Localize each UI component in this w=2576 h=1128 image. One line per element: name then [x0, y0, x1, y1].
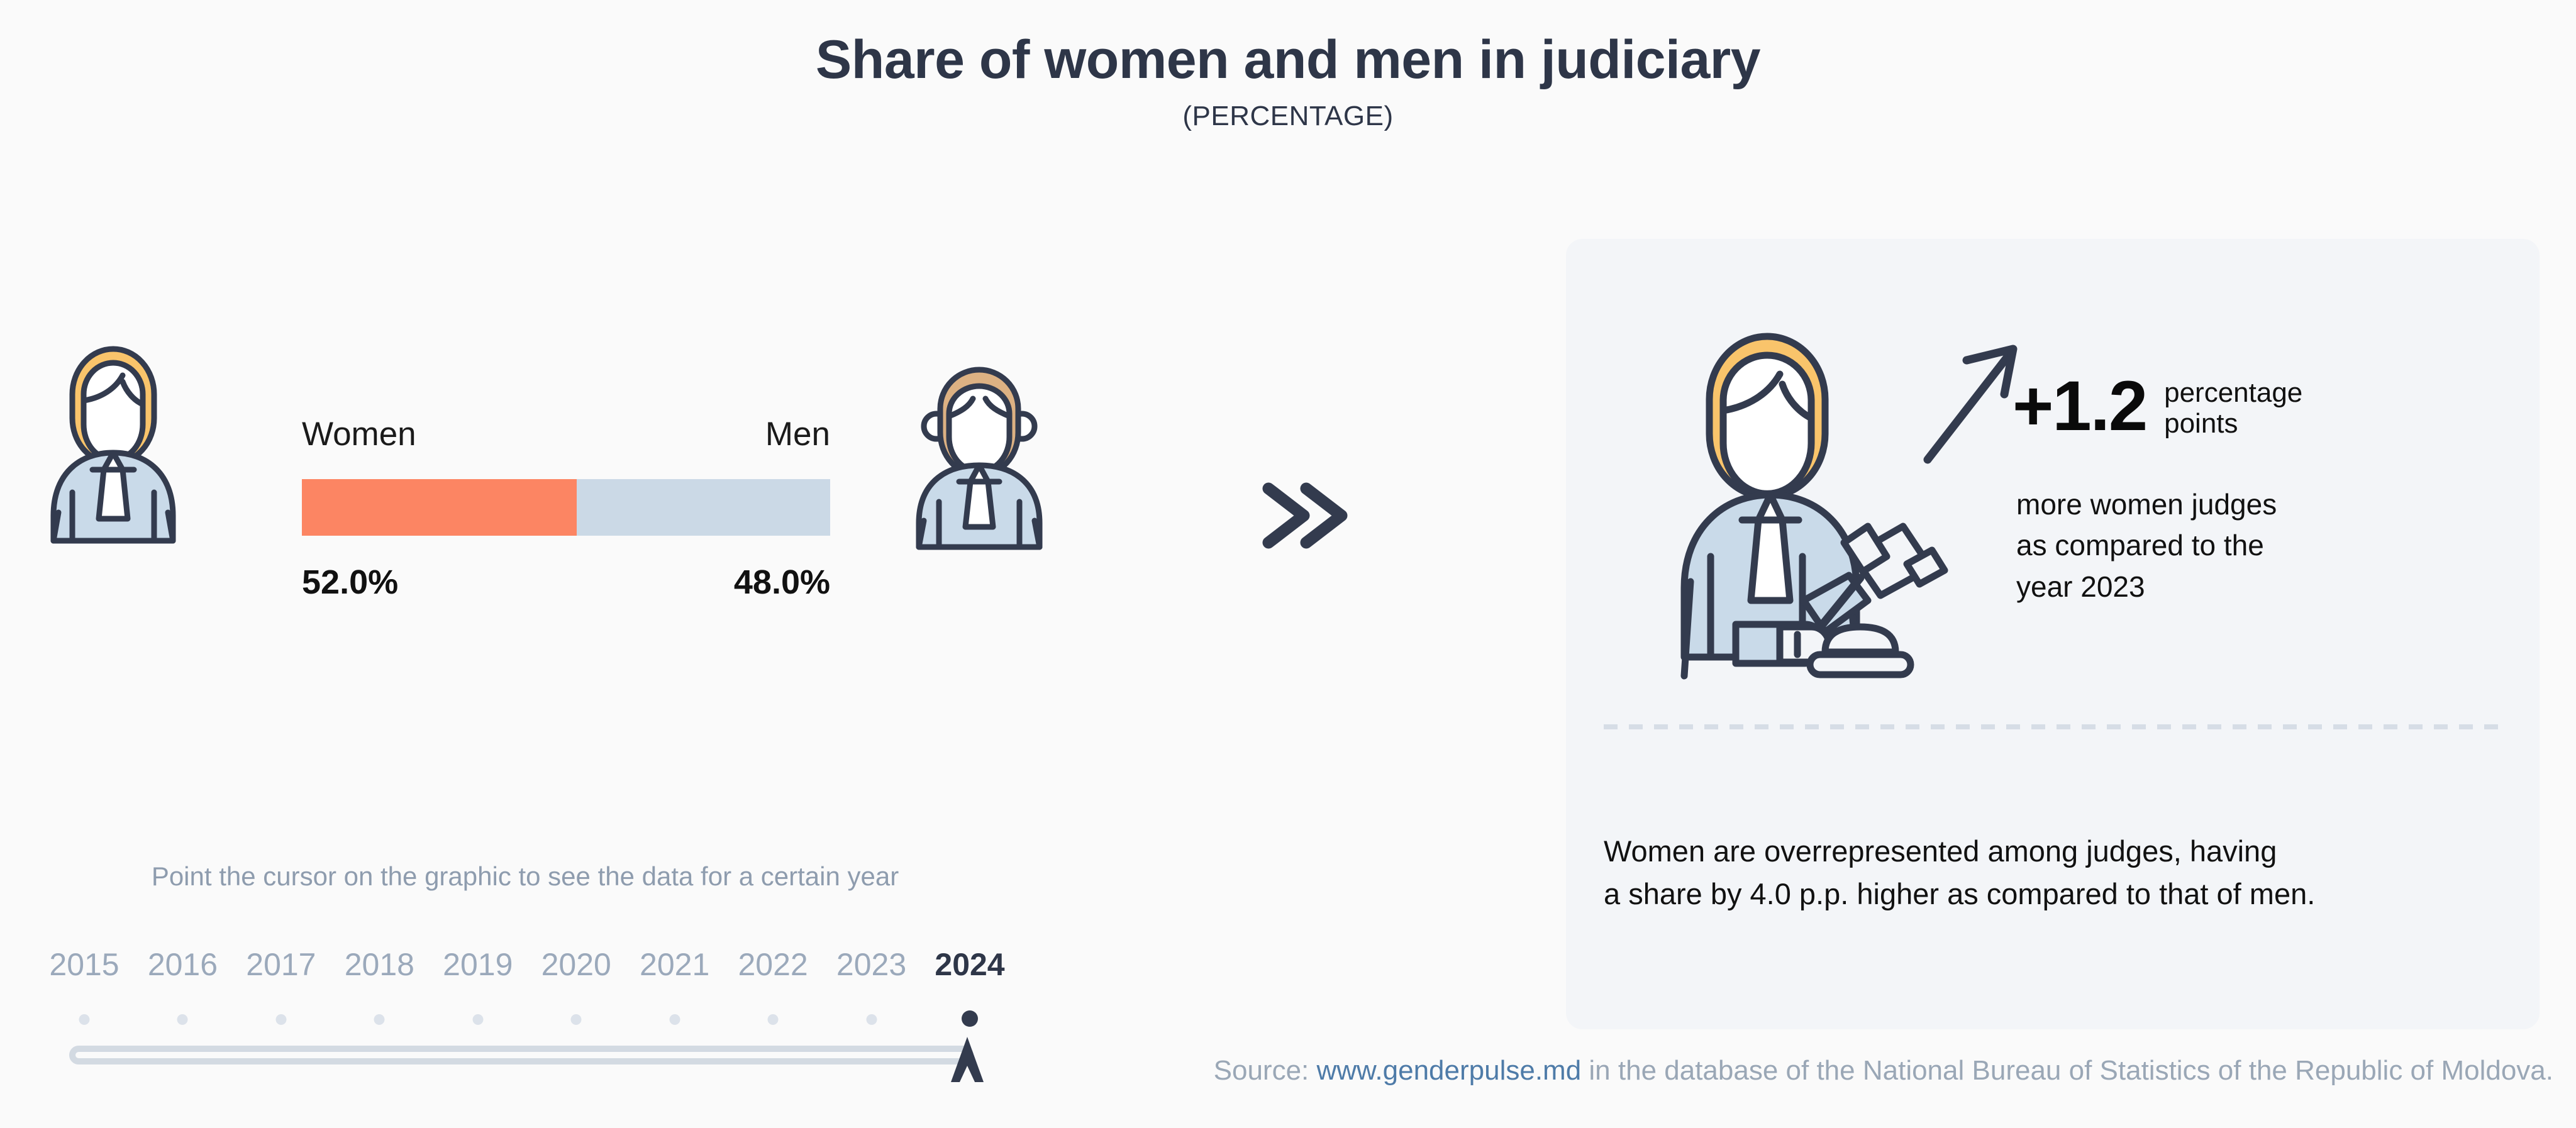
panel-note-line2: a share by 4.0 p.p. higher as compared t…: [1604, 873, 2315, 915]
bar-value-women: 52.0%: [302, 563, 398, 602]
chart-section: Women Men 52.0% 48.0%: [0, 207, 1478, 931]
woman-judge-avatar-icon: [35, 324, 192, 566]
timeline-tick-2015[interactable]: [79, 1014, 90, 1025]
stat-desc-line3: year 2023: [2016, 567, 2277, 607]
timeline-tick-2022[interactable]: [768, 1014, 779, 1025]
stat-unit: percentage points: [2164, 371, 2302, 440]
timeline-tick-2017[interactable]: [275, 1014, 286, 1025]
stat-desc-line1: more women judges: [2016, 484, 2277, 525]
timeline-year-2019[interactable]: 2019: [443, 946, 513, 983]
timeline-tick-2024[interactable]: [962, 1010, 978, 1027]
bar-segment-women[interactable]: [302, 479, 577, 536]
timeline-tick-2018[interactable]: [374, 1014, 385, 1025]
insight-panel: +1.2 percentage points more women judges…: [1566, 239, 2540, 1029]
timeline-tick-2021[interactable]: [669, 1014, 680, 1025]
timeline-hint: Point the cursor on the graphic to see t…: [69, 861, 981, 892]
timeline-tick-2020[interactable]: [571, 1014, 582, 1025]
page-title: Share of women and men in judiciary: [0, 29, 2576, 91]
panel-note-line1: Women are overrepresented among judges, …: [1604, 830, 2315, 873]
timeline-tick-2016[interactable]: [177, 1014, 188, 1025]
stat-description: more women judges as compared to the yea…: [2016, 484, 2277, 607]
man-judge-avatar-icon: [904, 346, 1055, 569]
infographic-page: Share of women and men in judiciary (PER…: [0, 0, 2576, 1128]
timeline-year-2023[interactable]: 2023: [836, 946, 906, 983]
double-chevron-right-icon: [1255, 475, 1355, 556]
timeline-tick-2023[interactable]: [866, 1014, 877, 1025]
timeline-ticks[interactable]: [69, 1010, 1013, 1036]
stacked-bar[interactable]: [302, 479, 830, 536]
timeline-year-2017[interactable]: 2017: [246, 946, 316, 983]
timeline-year-2015[interactable]: 2015: [49, 946, 119, 983]
source-suffix: in the database of the National Bureau o…: [1581, 1055, 2553, 1086]
year-timeline-slider[interactable]: 2015201620172018201920202021202220232024: [69, 946, 1013, 1070]
source-footer: Source: www.genderpulse.md in the databa…: [0, 1055, 2553, 1087]
bar-label-men: Men: [765, 415, 830, 453]
timeline-year-2016[interactable]: 2016: [148, 946, 218, 983]
stat-unit-line1: percentage: [2164, 377, 2302, 408]
timeline-year-2024[interactable]: 2024: [935, 946, 1004, 983]
timeline-year-labels[interactable]: 2015201620172018201920202021202220232024: [69, 946, 1013, 988]
timeline-tick-2019[interactable]: [472, 1014, 483, 1025]
stat-desc-line2: as compared to the: [2016, 525, 2277, 566]
bar-labels: Women Men: [302, 415, 830, 453]
source-prefix: Source:: [1214, 1055, 1317, 1086]
bar-values: 52.0% 48.0%: [302, 563, 830, 602]
timeline-year-2018[interactable]: 2018: [345, 946, 414, 983]
panel-divider: [1604, 724, 2503, 729]
stat-value: +1.2: [2012, 371, 2146, 441]
trend-up-arrow-icon: [1915, 336, 2028, 475]
stat-highlight: +1.2 percentage points: [2012, 371, 2302, 441]
timeline-year-2020[interactable]: 2020: [541, 946, 611, 983]
bar-segment-men[interactable]: [577, 479, 830, 536]
timeline-year-2021[interactable]: 2021: [640, 946, 709, 983]
bar-value-men: 48.0%: [734, 563, 830, 602]
panel-note: Women are overrepresented among judges, …: [1604, 830, 2315, 915]
stat-unit-line2: points: [2164, 408, 2302, 439]
timeline-year-2022[interactable]: 2022: [738, 946, 808, 983]
bar-label-women: Women: [302, 415, 416, 453]
page-subtitle: (PERCENTAGE): [0, 101, 2576, 132]
source-link[interactable]: www.genderpulse.md: [1317, 1055, 1582, 1086]
